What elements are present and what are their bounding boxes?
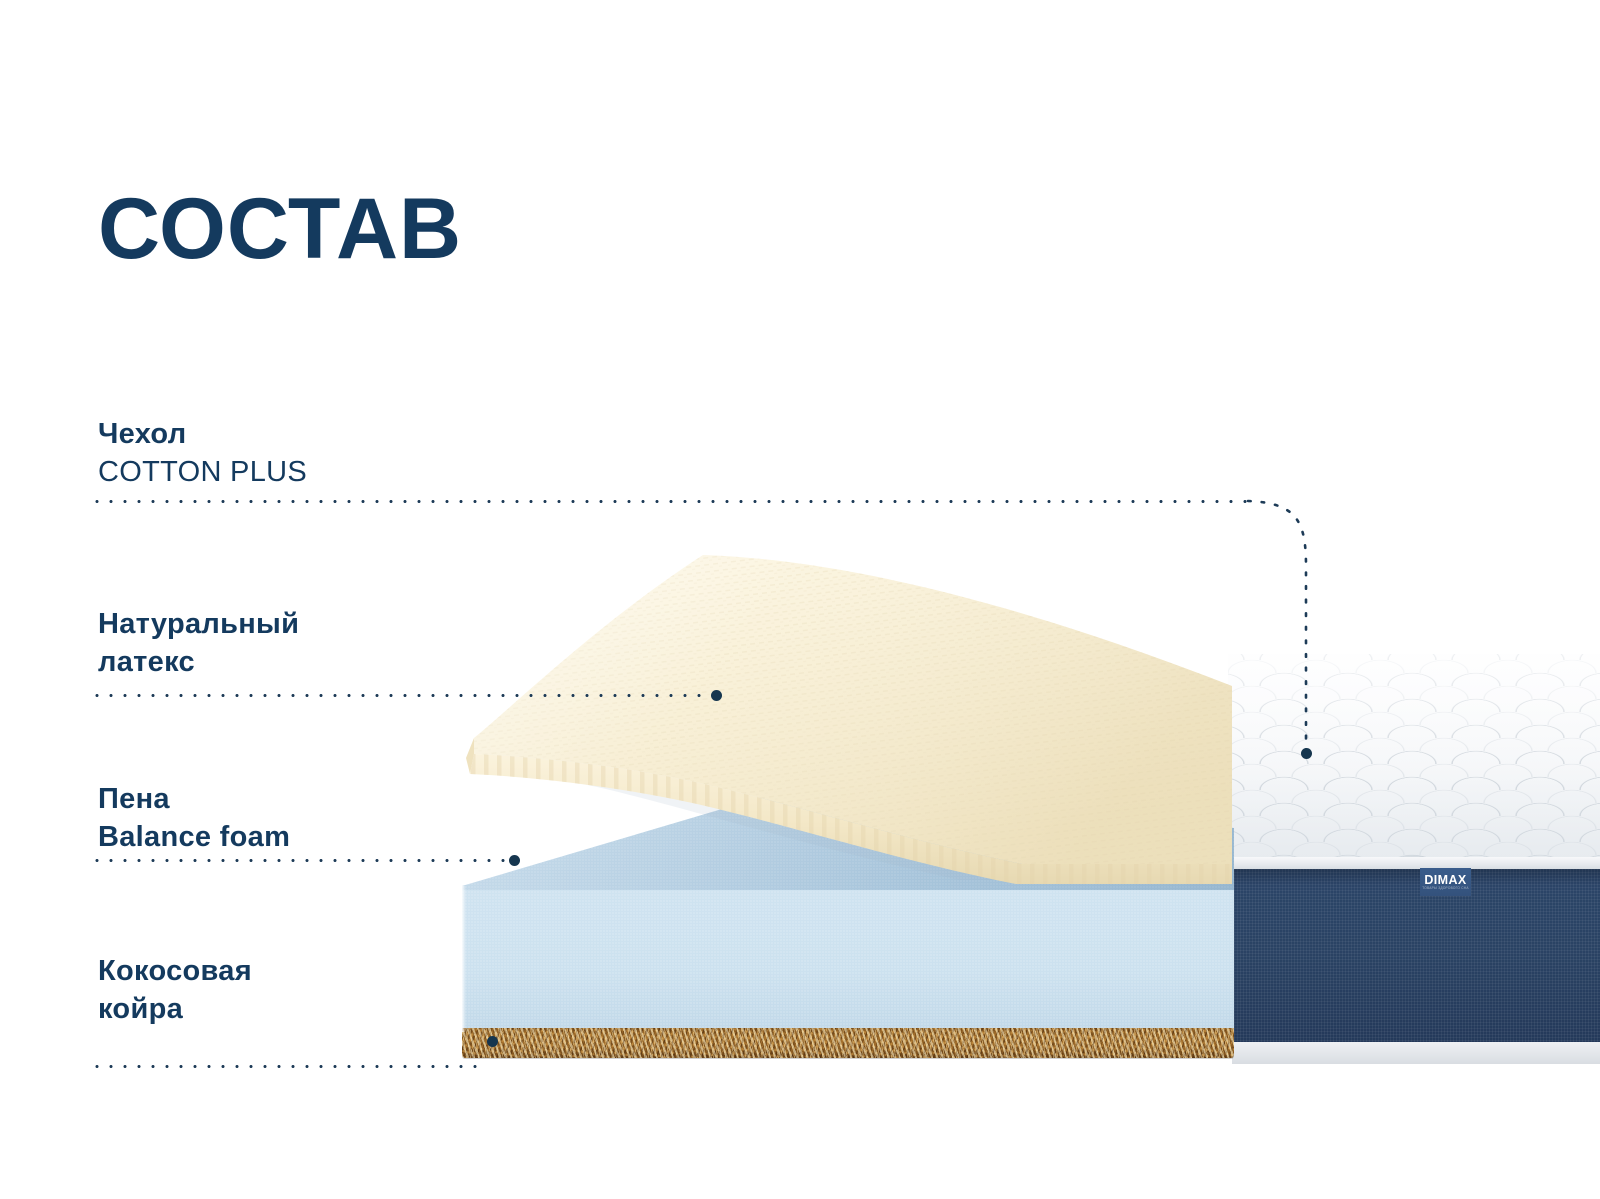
leader-endpoint-latex xyxy=(711,690,722,701)
leader-line-cover xyxy=(90,500,1250,503)
leader-line-latex xyxy=(90,694,717,697)
leader-endpoint-coir xyxy=(487,1036,498,1047)
annotation-layer: СОСТАВ Чехол COTTON PLUS Натуральный лат… xyxy=(0,0,1600,1199)
slide-canvas: DIMAX ТОВАРЫ ЗДОРОВОГО СНА xyxy=(0,0,1600,1199)
leader-line-coir xyxy=(90,1065,487,1068)
callout-foam-line1: Пена xyxy=(98,780,290,818)
callout-foam-line2: Balance foam xyxy=(98,818,290,856)
callout-foam: Пена Balance foam xyxy=(98,780,290,856)
callout-latex-line2: латекс xyxy=(98,643,299,681)
callout-coir: Кокосовая койра xyxy=(98,952,252,1028)
callout-coir-line2: койра xyxy=(98,990,252,1028)
leader-endpoint-foam xyxy=(509,855,520,866)
callout-cover-line2: COTTON PLUS xyxy=(98,453,307,491)
callout-coir-line1: Кокосовая xyxy=(98,952,252,990)
leader-endpoint-cover xyxy=(1301,748,1312,759)
callout-cover: Чехол COTTON PLUS xyxy=(98,415,307,491)
callout-cover-line1: Чехол xyxy=(98,415,307,453)
callout-latex-line1: Натуральный xyxy=(98,605,299,643)
page-title: СОСТАВ xyxy=(98,186,462,272)
leader-line-foam xyxy=(90,859,508,862)
callout-latex: Натуральный латекс xyxy=(98,605,299,681)
